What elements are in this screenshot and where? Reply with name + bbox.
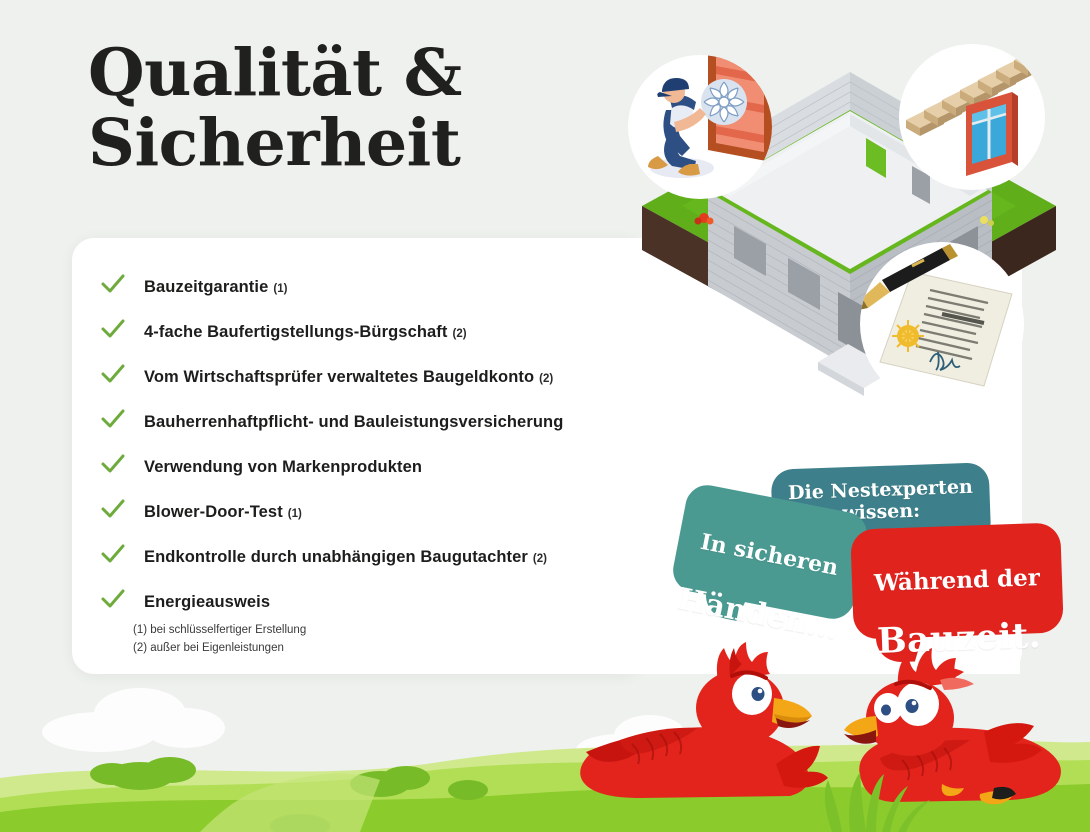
house-illustration	[612, 14, 1090, 414]
speech-bubble-bauzeit[interactable]: Während der Bauzeit.	[850, 522, 1064, 639]
list-item-note: (1)	[273, 283, 287, 295]
stairs-window-badge	[899, 38, 1070, 190]
bubble-text: Während der Bauzeit.	[850, 522, 1065, 687]
list-item[interactable]: Blower-Door-Test (1)	[100, 491, 660, 536]
page-title: Qualität & Sicherheit	[88, 38, 462, 178]
bubble-text-line1: Während der	[860, 564, 1055, 597]
list-item[interactable]: Endkontrolle durch unabhängigen Baugutac…	[100, 536, 660, 581]
list-item[interactable]: Bauherrenhaftpflicht- und Bauleistungsve…	[100, 401, 660, 446]
check-icon	[100, 451, 126, 477]
check-icon	[100, 316, 126, 342]
list-item[interactable]: Verwendung von Markenprodukten	[100, 446, 660, 491]
check-icon	[100, 271, 126, 297]
list-item-note: (2)	[453, 328, 467, 340]
list-item[interactable]: 4-fache Baufertigstellungs-Bürgschaft (2…	[100, 311, 660, 356]
infographic-stage: Qualität & Sicherheit Bauzeitgarantie (1…	[0, 0, 1090, 832]
list-item-note: (1)	[288, 508, 302, 520]
check-icon	[100, 361, 126, 387]
list-item[interactable]: Energieausweis	[100, 581, 660, 626]
list-item-note: (2)	[533, 553, 547, 565]
list-item-label: Bauherrenhaftpflicht- und Bauleistungsve…	[144, 413, 563, 432]
cloud-left	[42, 688, 225, 752]
list-item[interactable]: Bauzeitgarantie (1)	[100, 266, 660, 311]
list-item-label: Verwendung von Markenprodukten	[144, 458, 422, 477]
footnote-2: (2) außer bei Eigenleistungen	[133, 640, 306, 658]
list-item-label: Energieausweis	[144, 593, 270, 612]
bubble-text-line2: Bauzeit.	[861, 616, 1056, 662]
bird-left	[580, 642, 828, 798]
list-item-label: Blower-Door-Test	[144, 503, 283, 522]
footnote-1: (1) bei schlüsselfertiger Erstellung	[133, 622, 306, 640]
check-icon	[100, 541, 126, 567]
check-icon	[100, 496, 126, 522]
worker-door-badge	[628, 32, 772, 199]
footnotes: (1) bei schlüsselfertiger Erstellung (2)…	[133, 622, 306, 658]
check-icon	[100, 586, 126, 612]
checklist: Bauzeitgarantie (1) 4-fache Baufertigste…	[100, 266, 660, 626]
list-item-label: 4-fache Baufertigstellungs-Bürgschaft	[144, 323, 448, 342]
check-icon	[100, 406, 126, 432]
list-item-label: Endkontrolle durch unabhängigen Baugutac…	[144, 548, 528, 567]
list-item[interactable]: Vom Wirtschaftsprüfer verwaltetes Baugel…	[100, 356, 660, 401]
bubble-text-line1: In sicheren	[684, 526, 854, 585]
list-item-label: Bauzeitgarantie	[144, 278, 268, 297]
fan-icon	[704, 82, 744, 122]
list-item-label: Vom Wirtschaftsprüfer verwaltetes Baugel…	[144, 368, 534, 387]
list-item-note: (2)	[539, 373, 553, 385]
